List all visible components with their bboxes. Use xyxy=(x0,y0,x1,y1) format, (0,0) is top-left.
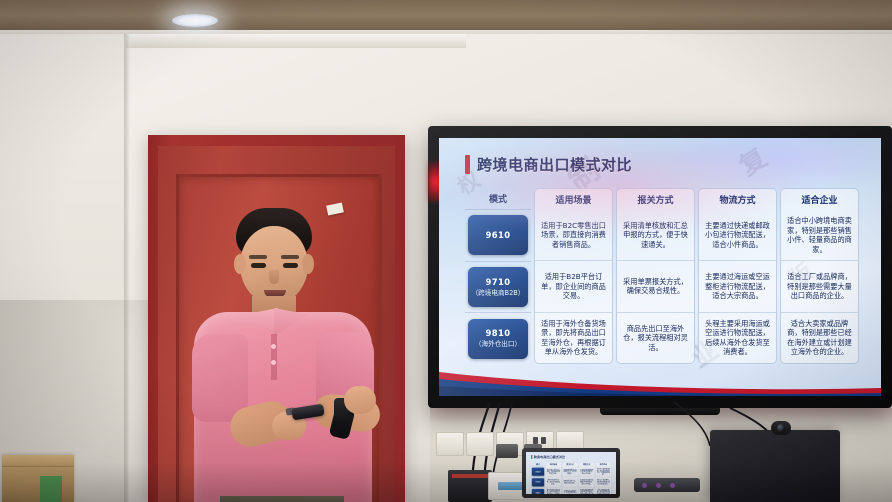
laptop-slide-mirror: 跨境电商出口模式对比 模式 9610 9710 9810 适用场景 xyxy=(526,452,616,494)
comparison-table: 模式 9610 9710 （跨境电商B2B） xyxy=(465,188,859,364)
power-strip-indicator xyxy=(656,483,661,488)
table-column-scenario: 适用场景 适用于B2C零售出口场景，即直接向消费者销售商品。 适用于B2B平台订… xyxy=(534,188,613,364)
table-cell-logistics: 主要通过海运或空运整柜进行物流配送，适合大宗商品。 xyxy=(699,261,776,312)
laptop-cell: 适用于海外仓备货场景，即先将商品出口至海外仓，再根据订单从海外仓发货。 xyxy=(546,488,562,494)
presenter-brow-left xyxy=(249,255,267,259)
presenter xyxy=(186,208,382,502)
column-header-logistics: 物流方式 xyxy=(698,188,777,210)
column-body-mode: 9610 9710 （跨境电商B2B） 9810 xyxy=(465,210,531,364)
column-header-customs: 报关方式 xyxy=(616,188,695,210)
slide-footer-decoration xyxy=(439,362,881,396)
laptop-mirroring-slide[interactable]: 跨境电商出口模式对比 模式 9610 9710 9810 适用场景 xyxy=(522,448,620,502)
wall-outlet[interactable] xyxy=(466,432,494,456)
laptop-cell: 适用于B2C零售出口场景，即直接向消费者销售商品。 xyxy=(546,467,562,477)
table-row: 9810 （海外仓出口） xyxy=(465,313,531,364)
table-cell-scenario: 适用于海外仓备货场景，即先将商品出口至海外仓，再根据订单从海外仓发货。 xyxy=(535,313,612,363)
table-column-customs: 报关方式 采用清单核放和汇总申报的方式，便于快速通关。 采用单票报关方式，确保交… xyxy=(616,188,695,364)
power-plug xyxy=(496,444,518,458)
table-cell-customs: 商品先出口至海外仓，报关流程相对灵活。 xyxy=(617,313,694,363)
laptop-mode-code: 9610 xyxy=(535,471,540,473)
presentation-room-scene: 制 复 专 业 版 权 跨境电商出口模式对比 模式 9610 xyxy=(0,0,892,502)
watermark-text: 复 xyxy=(731,138,773,183)
slide-title-group: 跨境电商出口模式对比 xyxy=(465,154,632,175)
laptop-cell: 适合工厂或品牌商，特别是那些需要大量出口商品的企业。 xyxy=(596,477,612,487)
table-cell-logistics: 主要通过快递或邮政小包进行物流配送，适合小件商品。 xyxy=(699,210,776,261)
laptop-cell: 主要通过快递或邮政小包进行物流配送，适合小件商品。 xyxy=(579,467,595,477)
secondary-monitor[interactable] xyxy=(710,430,840,502)
recessed-ceiling-light xyxy=(172,14,218,27)
presenter-shirt-button-top xyxy=(271,344,276,349)
table-cell-customs: 采用清单核放和汇总申报的方式，便于快速通关。 xyxy=(617,210,694,261)
column-header-scenario: 适用场景 xyxy=(534,188,613,210)
laptop-screen[interactable]: 跨境电商出口模式对比 模式 9610 9710 9810 适用场景 xyxy=(526,452,616,494)
presenter-ear-right xyxy=(302,254,314,274)
column-body-enterprise: 适合中小跨境电商卖家，特别是那些销售小件、轻量商品的商家。 适合工厂或品牌商，特… xyxy=(780,210,859,364)
presenter-shirt-button-bottom xyxy=(271,360,276,365)
column-body-logistics: 主要通过快递或邮政小包进行物流配送，适合小件商品。 主要通过海运或空运整柜进行物… xyxy=(698,210,777,364)
presenter-shirt-placket xyxy=(271,334,277,380)
column-header-enterprise: 适合企业 xyxy=(780,188,859,210)
table-column-mode: 模式 9610 9710 （跨境电商B2B） xyxy=(465,188,531,364)
webcam-lens-icon xyxy=(777,424,785,432)
laptop-cell: 头程主要采用海运或空运进行物流配送，后续从海外仓发货至消费者。 xyxy=(579,488,595,494)
outlet-socket-hole xyxy=(541,437,546,444)
outlet-socket-hole xyxy=(533,437,538,444)
mode-badge: 9610 xyxy=(468,215,528,255)
presentation-slide: 制 复 专 业 版 权 跨境电商出口模式对比 模式 9610 xyxy=(439,138,881,396)
column-header-mode: 模式 xyxy=(465,188,531,210)
presenter-hand-right xyxy=(344,386,376,414)
desk-device-indicator xyxy=(452,474,488,478)
table-cell-scenario: 适用于B2C零售出口场景，即直接向消费者销售商品。 xyxy=(535,210,612,261)
table-cell-enterprise: 适合大卖家或品牌商，特别是那些已经在海外建立或计划建立海外仓的企业。 xyxy=(781,313,858,363)
table-cell-logistics: 头程主要采用海运或空运进行物流配送，后续从海外仓发货至消费者。 xyxy=(699,313,776,363)
title-accent-bar xyxy=(465,155,470,174)
mode-badge: 9810 （海外仓出口） xyxy=(468,319,528,359)
wall-outlet[interactable] xyxy=(436,432,464,456)
table-row: 9710 （跨境电商B2B） xyxy=(465,262,531,314)
table-cell-customs: 采用单票报关方式，确保交易合规性。 xyxy=(617,261,694,312)
laptop-cell: 适合中小跨境电商卖家，特别是那些销售小件、轻量商品的商家。 xyxy=(596,467,612,477)
presenter-trousers xyxy=(220,496,344,502)
power-strip-indicator xyxy=(670,483,675,488)
presenter-ear-left xyxy=(234,254,246,274)
ceiling xyxy=(0,0,892,34)
mode-code-sub: （跨境电商B2B） xyxy=(472,289,525,298)
laptop-cell: 商品先出口至海外仓，报关流程相对灵活。 xyxy=(562,488,578,494)
table-cell-scenario: 适用于B2B平台订单，即企业间的商品交易。 xyxy=(535,261,612,312)
mode-code: 9710 xyxy=(486,277,511,288)
mode-code: 9810 xyxy=(486,328,511,339)
laptop-slide-title: 跨境电商出口模式对比 xyxy=(534,455,566,459)
column-body-customs: 采用清单核放和汇总申报的方式，便于快速通关。 采用单票报关方式，确保交易合规性。… xyxy=(616,210,695,364)
table-column-logistics: 物流方式 主要通过快递或邮政小包进行物流配送，适合小件商品。 主要通过海运或空运… xyxy=(698,188,777,364)
mode-badge: 9710 （跨境电商B2B） xyxy=(468,267,528,307)
laptop-cell: 适合大卖家或品牌商，特别是那些已经在海外建立或计划建立海外仓的企业。 xyxy=(596,488,612,494)
table-row: 9610 xyxy=(465,210,531,262)
table-column-enterprise: 适合企业 适合中小跨境电商卖家，特别是那些销售小件、轻量商品的商家。 适合工厂或… xyxy=(780,188,859,364)
column-body-scenario: 适用于B2C零售出口场景，即直接向消费者销售商品。 适用于B2B平台订单，即企业… xyxy=(534,210,613,364)
laptop-cell: 适用于B2B平台订单，即企业间的商品交易。 xyxy=(546,477,562,487)
presenter-eye-left xyxy=(251,263,266,268)
power-strip-indicator xyxy=(642,483,647,488)
laptop-cell: 主要通过海运或空运整柜进行物流配送，适合大宗商品。 xyxy=(579,477,595,487)
presenter-brow-right xyxy=(281,255,299,259)
presenter-eye-right xyxy=(283,263,298,268)
laptop-mode-code: 9810 xyxy=(535,492,540,494)
wall-soffit xyxy=(126,34,466,48)
table-cell-enterprise: 适合中小跨境电商卖家，特别是那些销售小件、轻量商品的商家。 xyxy=(781,210,858,261)
display-screen[interactable]: 制 复 专 业 版 权 跨境电商出口模式对比 模式 9610 xyxy=(439,138,881,396)
cardboard-box-flap xyxy=(2,455,74,467)
cardboard-box-tape xyxy=(40,476,62,502)
laptop-cell: 采用单票报关方式，确保交易合规性。 xyxy=(562,477,578,487)
mode-code-sub: （海外仓出口） xyxy=(475,340,521,349)
footer-swoosh-svg xyxy=(439,362,881,396)
laptop-mode-code: 9710 xyxy=(535,481,540,483)
presenter-nose xyxy=(269,270,279,284)
slide-title: 跨境电商出口模式对比 xyxy=(477,154,632,175)
laptop-cell: 采用清单核放和汇总申报的方式，便于快速通关。 xyxy=(562,467,578,477)
mode-code: 9610 xyxy=(486,230,511,241)
table-cell-enterprise: 适合工厂或品牌商，特别是那些需要大量出口商品的企业。 xyxy=(781,261,858,312)
